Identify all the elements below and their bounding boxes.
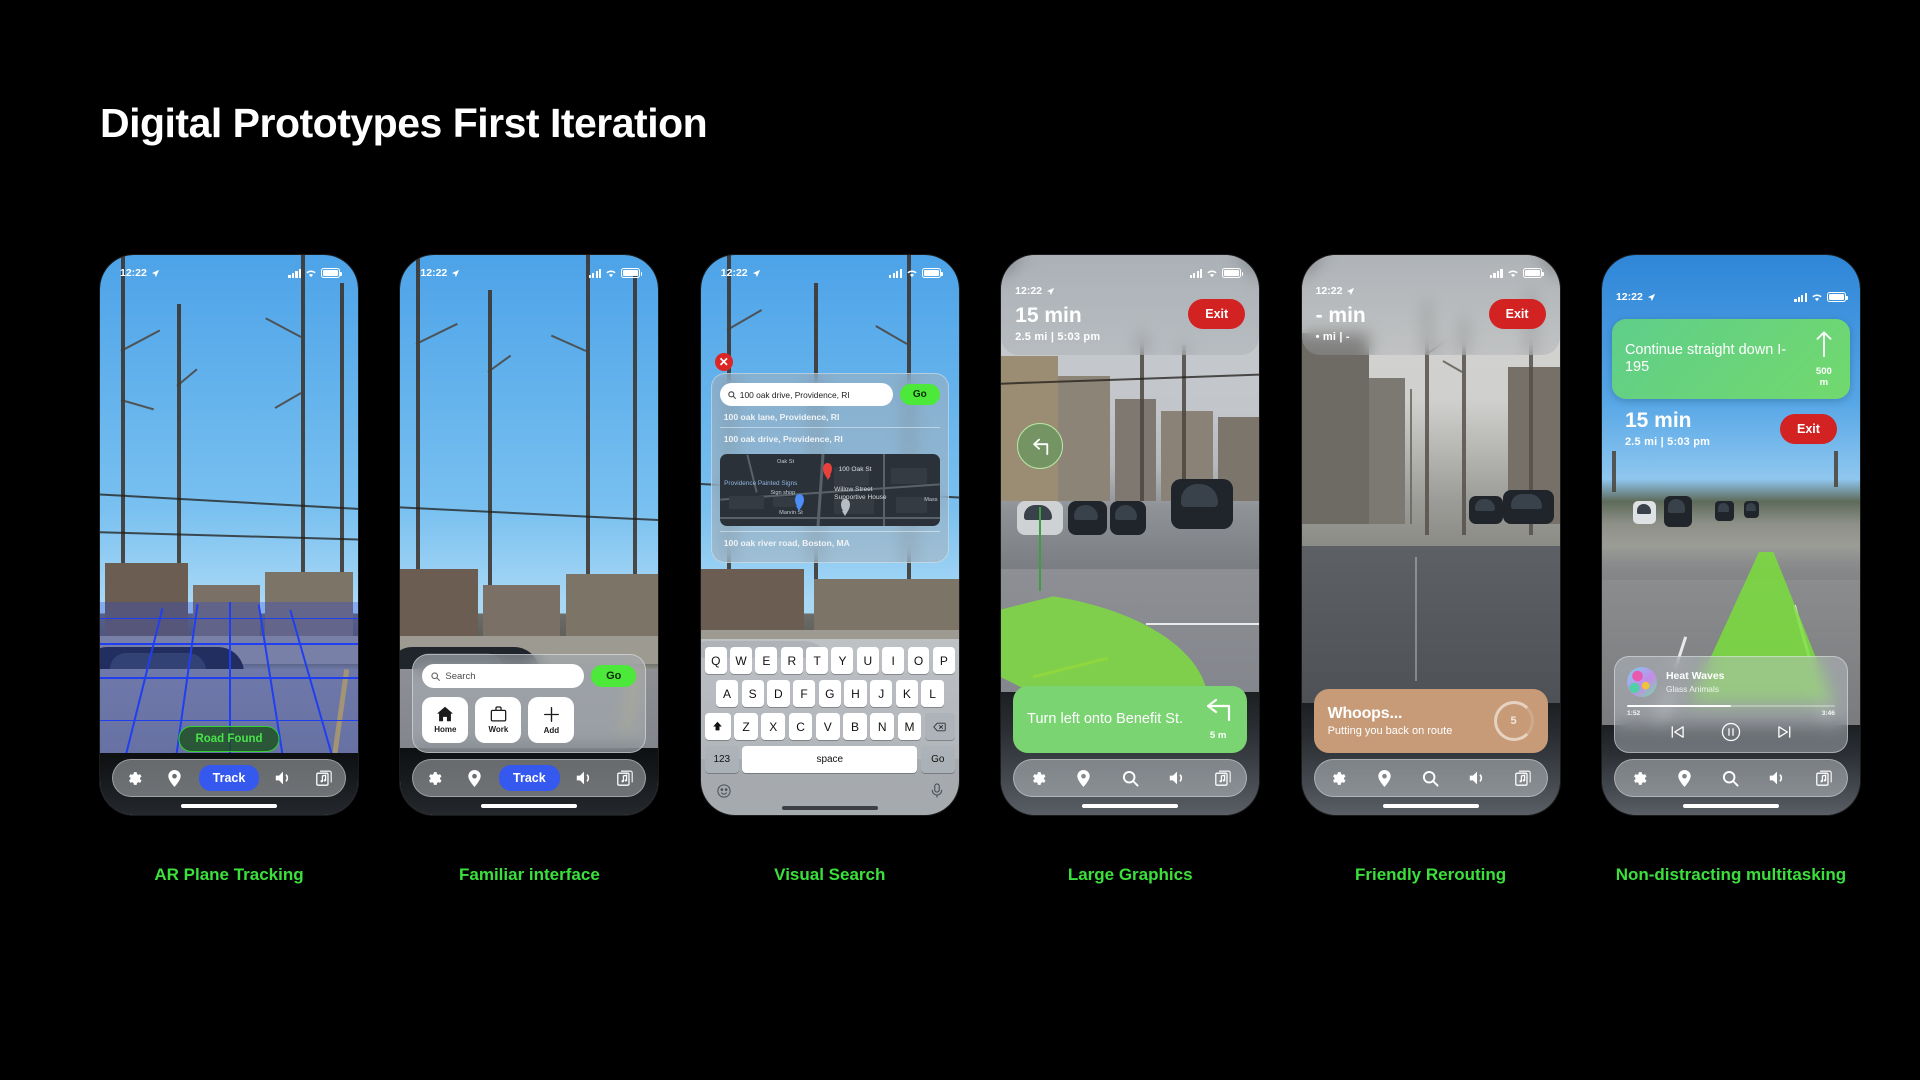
space-key[interactable]: space [742, 746, 917, 773]
track-title: Heat Waves [1666, 670, 1725, 682]
prototype-friendly-rerouting: 12:22 - min • mi | - Exit [1302, 255, 1560, 815]
page-title: Digital Prototypes First Iteration [100, 100, 707, 147]
phone-frame: 12:22 15 min 2.5 mi | 5:03 pm Exit [1001, 255, 1259, 815]
keyboard-row-1: Q W E R T Y U I O P [705, 647, 955, 674]
now-playing-row: Heat Waves Glass Animals [1627, 667, 1835, 697]
next-track-icon[interactable] [1777, 725, 1792, 739]
map-label: Willow Street [834, 486, 872, 493]
instruction-distance: 500 m [1811, 366, 1837, 388]
street-lamp [1410, 389, 1412, 523]
buildings [701, 569, 959, 636]
shortcut-label: Add [544, 726, 560, 735]
duration-time: 3:46 [1822, 710, 1835, 717]
gear-icon[interactable] [1321, 763, 1355, 793]
reroute-card: Whoops... Putting you back on route 5 [1314, 689, 1548, 753]
key[interactable]: Y [831, 647, 853, 674]
phone-frame: 12:22 - min • mi | - Exit [1302, 255, 1560, 815]
caption-friendly-rerouting: Friendly Rerouting [1302, 865, 1560, 885]
go-button[interactable]: Go [900, 384, 940, 405]
wifi-icon [305, 269, 317, 278]
go-button[interactable]: Go [591, 665, 636, 687]
bottom-dock: Track [412, 759, 646, 797]
map-pin-icon[interactable] [158, 763, 192, 793]
instruction-card: Continue straight down I-195 500 m [1612, 319, 1850, 399]
cellular-bars-icon [589, 269, 602, 278]
search-value: 100 oak drive, Providence, RI [740, 390, 850, 400]
key[interactable]: B [843, 713, 867, 740]
briefcase-icon [490, 706, 507, 722]
phone-screen: 12:22 15 min 2.5 mi | 5:03 pm Exit [1001, 255, 1259, 815]
cellular-bars-icon [1794, 293, 1807, 302]
reroute-text-group: Whoops... Putting you back on route [1328, 705, 1453, 737]
shortcut-home[interactable]: Home [422, 697, 468, 743]
home-indicator [1683, 804, 1779, 808]
status-bar: 12:22 [701, 255, 959, 283]
music-library-icon[interactable] [307, 763, 341, 793]
wifi-icon [1206, 269, 1218, 278]
keyboard-row-3: Z X C V B N M [705, 713, 955, 740]
search-input[interactable]: Search [422, 664, 584, 688]
status-time: 12:22 [1616, 291, 1643, 303]
map-label: Sign shop [770, 490, 795, 496]
search-icon[interactable] [1714, 763, 1748, 793]
reroute-subtitle: Putting you back on route [1328, 725, 1453, 737]
keyboard-row-2: A S D F G H J K L [705, 680, 955, 707]
location-arrow-icon [752, 269, 761, 278]
key[interactable]: J [870, 680, 892, 707]
key[interactable]: F [793, 680, 815, 707]
key[interactable]: K [896, 680, 918, 707]
battery-icon [321, 268, 340, 278]
status-time: 12:22 [1015, 285, 1042, 297]
wifi-icon [1507, 269, 1519, 278]
map-preview[interactable]: Oak St 100 Oak St Providence Painted Sig… [720, 454, 940, 526]
turn-left-arrow-icon [1029, 436, 1051, 456]
eta-duration: 15 min [1625, 409, 1710, 432]
search-icon[interactable] [1414, 763, 1448, 793]
key[interactable]: X [761, 713, 785, 740]
status-bar: 12:22 [1015, 285, 1100, 297]
key[interactable]: W [730, 647, 752, 674]
onscreen-keyboard: Q W E R T Y U I O P A [701, 639, 959, 815]
vehicle [1664, 496, 1692, 527]
key[interactable]: D [767, 680, 789, 707]
straight-arrow-icon [1814, 330, 1834, 358]
status-time: 12:22 [420, 267, 447, 279]
track-button[interactable]: Track [199, 765, 260, 791]
key[interactable]: V [816, 713, 840, 740]
tree-silhouettes [400, 255, 658, 602]
music-player-card: Heat Waves Glass Animals 1:52 3:46 [1614, 656, 1848, 754]
map-pin-business [795, 494, 804, 507]
speaker-icon[interactable] [1760, 763, 1794, 793]
eta-details: 2.5 mi | 5:03 pm [1015, 331, 1100, 343]
countdown-timer: 5 [1494, 701, 1534, 741]
turn-distance-group: 5 m [1203, 698, 1233, 741]
map-label: Marvin St [779, 510, 803, 516]
eta-details: 2.5 mi | 5:03 pm [1625, 436, 1710, 448]
emoji-icon[interactable] [717, 784, 731, 798]
home-indicator [782, 806, 878, 810]
parked-car [1469, 496, 1503, 524]
bottom-dock [1013, 759, 1247, 797]
parked-car [1068, 501, 1107, 535]
phone-frame: 12:22 ✕ [701, 255, 959, 815]
key[interactable]: A [716, 680, 738, 707]
turn-left-arrow-icon [1203, 698, 1233, 722]
key[interactable]: N [870, 713, 894, 740]
map-label: 100 Oak St [839, 466, 872, 473]
instruction-text: Continue straight down I-195 [1625, 342, 1803, 376]
album-art-icon [1627, 667, 1657, 697]
playback-progress-bar[interactable] [1627, 705, 1835, 708]
keyboard-bottom-row [705, 779, 955, 798]
phone-frame: 12:22 Search [400, 255, 658, 815]
eta-duration: 15 min [1015, 304, 1100, 327]
key[interactable]: O [908, 647, 930, 674]
caption-visual-search: Visual Search [701, 865, 959, 885]
keyboard-row-4: 123 space Go [705, 746, 955, 773]
battery-icon [1827, 292, 1846, 302]
navigation-header: 12:22 Continue straight down I-195 [1602, 255, 1860, 458]
status-time: 12:22 [721, 267, 748, 279]
music-library-icon[interactable] [1206, 763, 1240, 793]
phone-frame: 12:22 Continue straight down I-195 [1602, 255, 1860, 815]
key[interactable]: E [755, 647, 777, 674]
map-pin-icon[interactable] [458, 763, 492, 793]
pause-icon[interactable] [1721, 722, 1741, 742]
map-pin-icon[interactable] [1367, 763, 1401, 793]
eta-card: 15 min 2.5 mi | 5:03 pm Exit [1612, 402, 1850, 458]
phone-screen: 12:22 ✕ [701, 255, 959, 815]
turn-instruction-card: Turn left onto Benefit St. 5 m [1013, 686, 1247, 753]
cellular-bars-icon [1190, 269, 1203, 278]
phone-frame: 12:22 Road Found [100, 255, 358, 815]
microphone-icon[interactable] [931, 783, 943, 798]
key[interactable]: M [898, 713, 922, 740]
key[interactable]: S [742, 680, 764, 707]
vehicle-ahead [1171, 479, 1233, 529]
battery-icon [621, 268, 640, 278]
bottom-dock [1614, 759, 1848, 797]
status-bar: 12:22 [1602, 283, 1860, 311]
map-pin-destination [823, 463, 832, 476]
shortcut-label: Home [434, 725, 456, 734]
battery-icon [922, 268, 941, 278]
exit-button[interactable]: Exit [1188, 299, 1245, 329]
plus-icon [543, 706, 560, 723]
phone-screen: 12:22 Road Found [100, 255, 358, 815]
turn-distance: 5 m [1203, 730, 1233, 741]
caption-ar-plane-tracking: AR Plane Tracking [100, 865, 358, 885]
speaker-icon[interactable] [1160, 763, 1194, 793]
ar-turn-left-sign [1017, 423, 1063, 469]
key[interactable]: G [819, 680, 841, 707]
bottom-dock: Track [112, 759, 346, 797]
cellular-bars-icon [288, 269, 301, 278]
prototype-large-graphics: 12:22 15 min 2.5 mi | 5:03 pm Exit [1001, 255, 1259, 815]
status-bar: 12:22 [100, 255, 358, 283]
reroute-title: Whoops... [1328, 705, 1453, 723]
track-button[interactable]: Track [499, 765, 560, 791]
close-x-icon[interactable]: ✕ [715, 353, 733, 371]
ar-sign-pole [1039, 507, 1041, 591]
status-bar-icons [1001, 255, 1259, 283]
gear-icon[interactable] [117, 763, 151, 793]
search-icon [728, 391, 736, 399]
instruction-distance-group: 500 m [1811, 330, 1837, 388]
exit-button[interactable]: Exit [1489, 299, 1546, 329]
numbers-key[interactable]: 123 [705, 746, 739, 773]
vehicle [1715, 501, 1733, 521]
location-arrow-icon [1647, 293, 1656, 302]
cellular-bars-icon [889, 269, 902, 278]
key[interactable]: Z [734, 713, 758, 740]
key[interactable]: I [882, 647, 904, 674]
track-artist: Glass Animals [1666, 684, 1725, 694]
key[interactable]: Q [705, 647, 727, 674]
backspace-icon[interactable] [925, 713, 955, 740]
suggestion-item[interactable]: 100 oak drive, Providence, RI [720, 428, 940, 449]
gear-icon[interactable] [417, 763, 451, 793]
cellular-bars-icon [1490, 269, 1503, 278]
buildings [400, 569, 658, 642]
search-input[interactable]: 100 oak drive, Providence, RI [720, 383, 893, 406]
caption-familiar-interface: Familiar interface [400, 865, 658, 885]
search-placeholder: Search [445, 671, 475, 682]
key[interactable]: L [921, 680, 943, 707]
exit-button[interactable]: Exit [1780, 414, 1837, 444]
turn-instruction-text: Turn left onto Benefit St. [1027, 711, 1183, 728]
phone-screen: 12:22 Search [400, 255, 658, 815]
status-time: 12:22 [1316, 285, 1343, 297]
shortcut-add[interactable]: Add [528, 697, 574, 743]
slide-root: Digital Prototypes First Iteration [0, 0, 1920, 1080]
wifi-icon [1811, 293, 1823, 302]
map-pin-poi [841, 499, 850, 512]
search-icon[interactable] [1113, 763, 1147, 793]
music-library-icon[interactable] [1807, 763, 1841, 793]
caption-non-distracting-multitasking: Non-distracting multitasking [1602, 865, 1860, 885]
eta-details: • mi | - [1316, 331, 1366, 343]
music-library-icon[interactable] [1506, 763, 1540, 793]
shortcut-label: Work [488, 725, 508, 734]
parked-car [1503, 490, 1555, 524]
map-pin-icon[interactable] [1067, 763, 1101, 793]
home-indicator [481, 804, 577, 808]
status-bar: 12:22 [400, 255, 658, 283]
phone-screen: 12:22 - min • mi | - Exit [1302, 255, 1560, 815]
speaker-icon[interactable] [567, 763, 601, 793]
vehicle [1744, 501, 1759, 518]
gear-icon[interactable] [1621, 763, 1655, 793]
status-bar: 12:22 [1316, 285, 1366, 297]
location-arrow-icon [151, 269, 160, 278]
prototype-non-distracting-multitasking: 12:22 Continue straight down I-195 [1602, 255, 1860, 815]
key[interactable]: T [806, 647, 828, 674]
key[interactable]: R [781, 647, 803, 674]
home-indicator [181, 804, 277, 808]
home-icon [436, 706, 454, 722]
shift-icon[interactable] [705, 713, 731, 740]
prototype-gallery: 12:22 Road Found [100, 255, 1860, 855]
visual-search-panel: 100 oak drive, Providence, RI Go 100 oak… [711, 373, 949, 563]
map-label: Mass [924, 497, 937, 503]
playback-controls [1627, 722, 1835, 742]
speaker-icon[interactable] [1460, 763, 1494, 793]
wifi-icon [605, 269, 617, 278]
search-row: 100 oak drive, Providence, RI Go [720, 383, 940, 406]
wifi-icon [906, 269, 918, 278]
map-label: Providence Painted Signs [724, 480, 797, 487]
music-library-icon[interactable] [608, 763, 642, 793]
vehicle [1633, 501, 1656, 523]
home-indicator [1383, 804, 1479, 808]
status-time: 12:22 [120, 267, 147, 279]
eta-duration: - min [1316, 304, 1366, 327]
home-indicator [1082, 804, 1178, 808]
map-label: Oak St [777, 459, 794, 465]
caption-row: AR Plane Tracking Familiar interface Vis… [100, 865, 1860, 885]
search-row: Search Go [422, 664, 636, 688]
battery-icon [1523, 268, 1542, 278]
shortcut-row: Home Work Add [422, 697, 636, 743]
go-key[interactable]: Go [921, 746, 955, 773]
search-icon [431, 672, 440, 681]
bottom-dock [1314, 759, 1548, 797]
key[interactable]: C [789, 713, 813, 740]
phone-screen: 12:22 Continue straight down I-195 [1602, 255, 1860, 815]
prototype-ar-plane-tracking: 12:22 Road Found [100, 255, 358, 815]
shortcut-work[interactable]: Work [475, 697, 521, 743]
gear-icon[interactable] [1020, 763, 1054, 793]
location-arrow-icon [1046, 287, 1055, 296]
suggestion-item[interactable]: 100 oak lane, Providence, RI [720, 406, 940, 428]
battery-icon [1222, 268, 1241, 278]
caption-large-graphics: Large Graphics [1001, 865, 1259, 885]
previous-track-icon[interactable] [1670, 725, 1685, 739]
parked-car [1110, 501, 1146, 535]
playback-times: 1:52 3:46 [1627, 710, 1835, 717]
location-arrow-icon [1346, 287, 1355, 296]
key[interactable]: U [857, 647, 879, 674]
key[interactable]: P [933, 647, 955, 674]
map-pin-icon[interactable] [1668, 763, 1702, 793]
prototype-visual-search: 12:22 ✕ [701, 255, 959, 815]
elapsed-time: 1:52 [1627, 710, 1640, 717]
prototype-familiar-interface: 12:22 Search [400, 255, 658, 815]
tree-silhouettes [100, 255, 358, 602]
key[interactable]: H [844, 680, 866, 707]
location-arrow-icon [451, 269, 460, 278]
status-badge: Road Found [178, 726, 279, 752]
suggestion-item[interactable]: 100 oak river road, Boston, MA [720, 531, 940, 553]
status-bar-icons [1302, 255, 1560, 283]
speaker-icon[interactable] [266, 763, 300, 793]
search-panel: Search Go Home Work [412, 654, 646, 753]
